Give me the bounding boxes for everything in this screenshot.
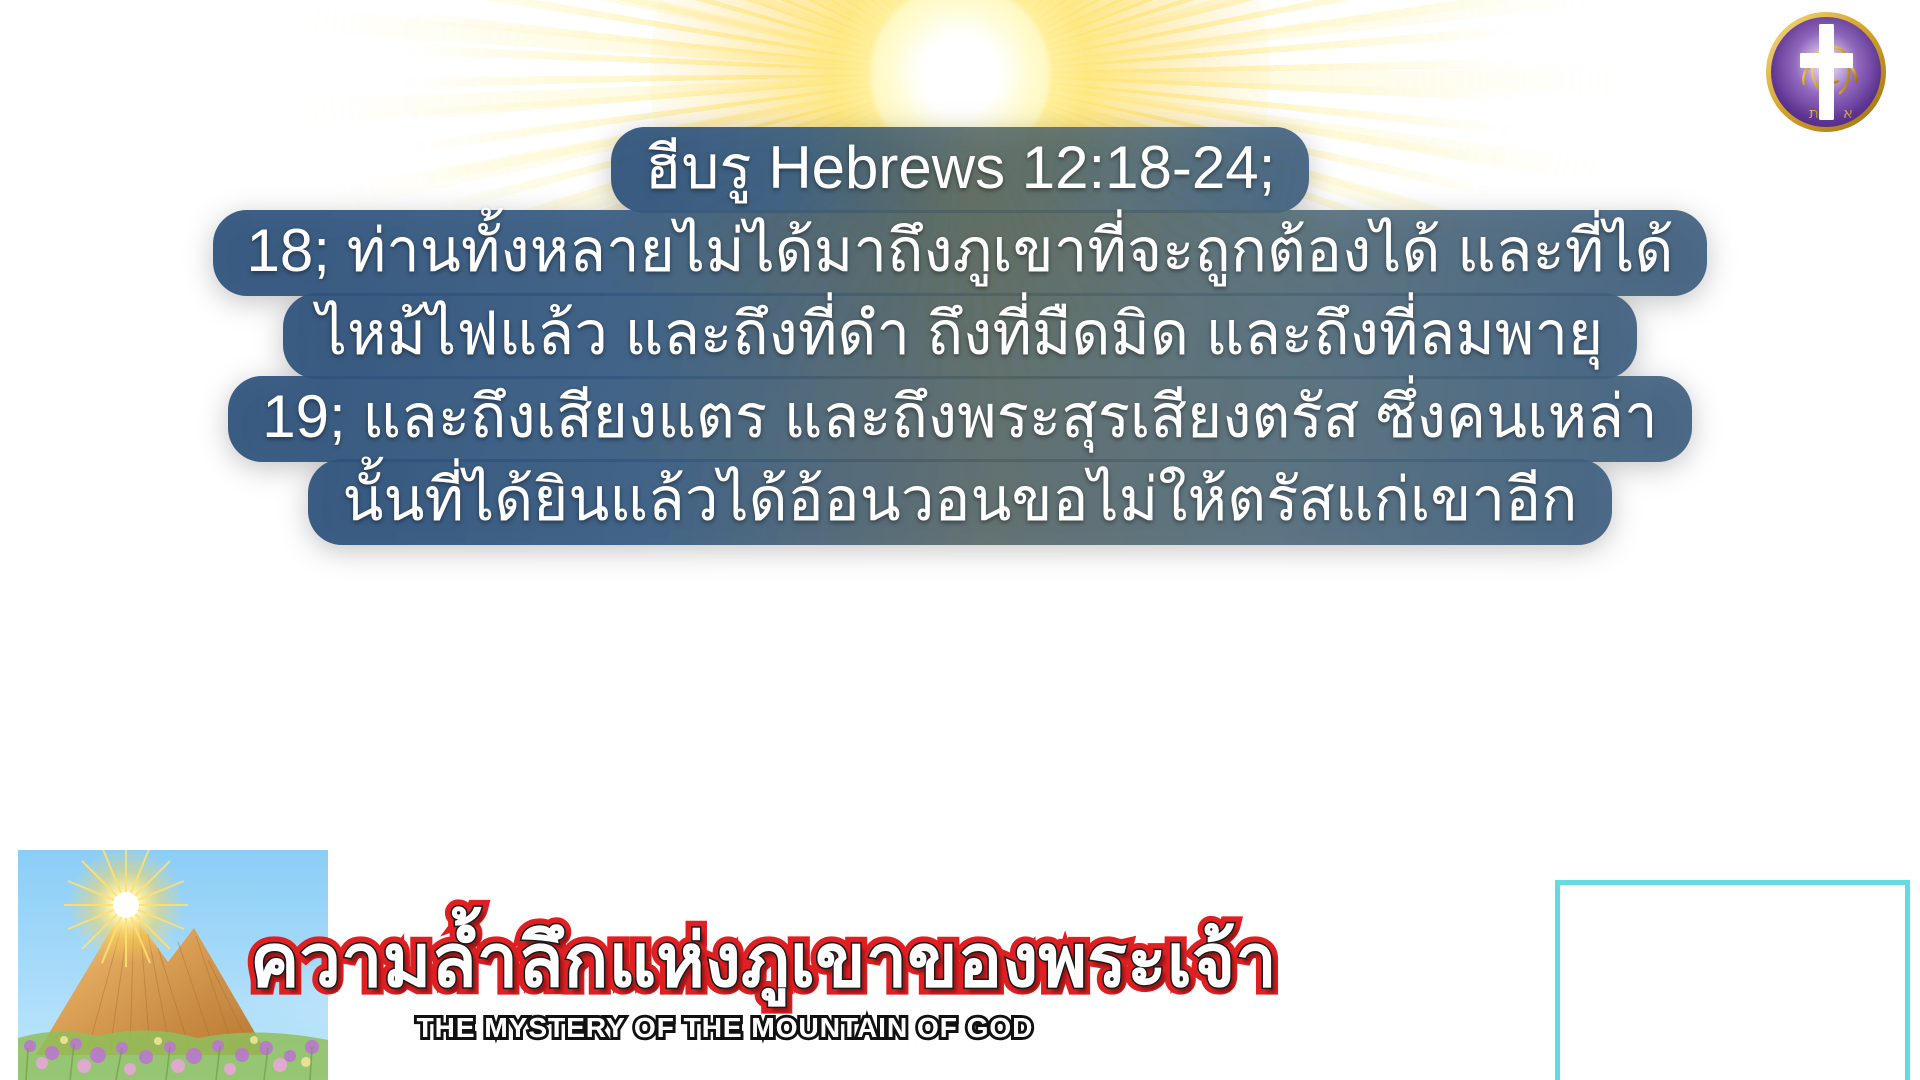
- lion-cross-emblem-icon: ת א: [1764, 10, 1888, 134]
- slide-canvas: ת א ฮีบรู Hebrews 12:18-24; 18; ท่านทั้ง…: [0, 0, 1920, 1080]
- video-frame-placeholder: [1555, 880, 1910, 1080]
- verse-line-4: นั้นที่ได้ยินแล้วได้อ้อนวอนขอไม่ให้ตรัสแ…: [308, 459, 1611, 545]
- verse-reference: ฮีบรู Hebrews 12:18-24;: [611, 127, 1310, 213]
- banner-title-english: THE MYSTERY OF THE MOUNTAIN OF GOD: [250, 1014, 1200, 1042]
- banner-title-thai: ความล้ำลึกแห่งภูเขาของพระเจ้า: [250, 924, 1200, 998]
- verse-line-2: ไหม้ไฟแล้ว และถึงที่ดำ ถึงที่มืดมิด และถ…: [283, 293, 1637, 379]
- hebrew-letter-tav: ת: [1809, 104, 1819, 122]
- verse-line-1: 18; ท่านทั้งหลายไม่ได้มาถึงภูเขาที่จะถูก…: [213, 210, 1708, 296]
- lower-third-banner: ความล้ำลึกแห่งภูเขาของพระเจ้า ความล้ำลึก…: [250, 924, 1200, 1074]
- verse-line-3: 19; และถึงเสียงแตร และถึงพระสุรเสียงตรัส…: [228, 376, 1691, 462]
- verse-panel: ฮีบรู Hebrews 12:18-24; 18; ท่านทั้งหลาย…: [110, 120, 1810, 567]
- mountain-sun-icon: [64, 850, 188, 967]
- hebrew-letter-aleph: א: [1843, 104, 1853, 122]
